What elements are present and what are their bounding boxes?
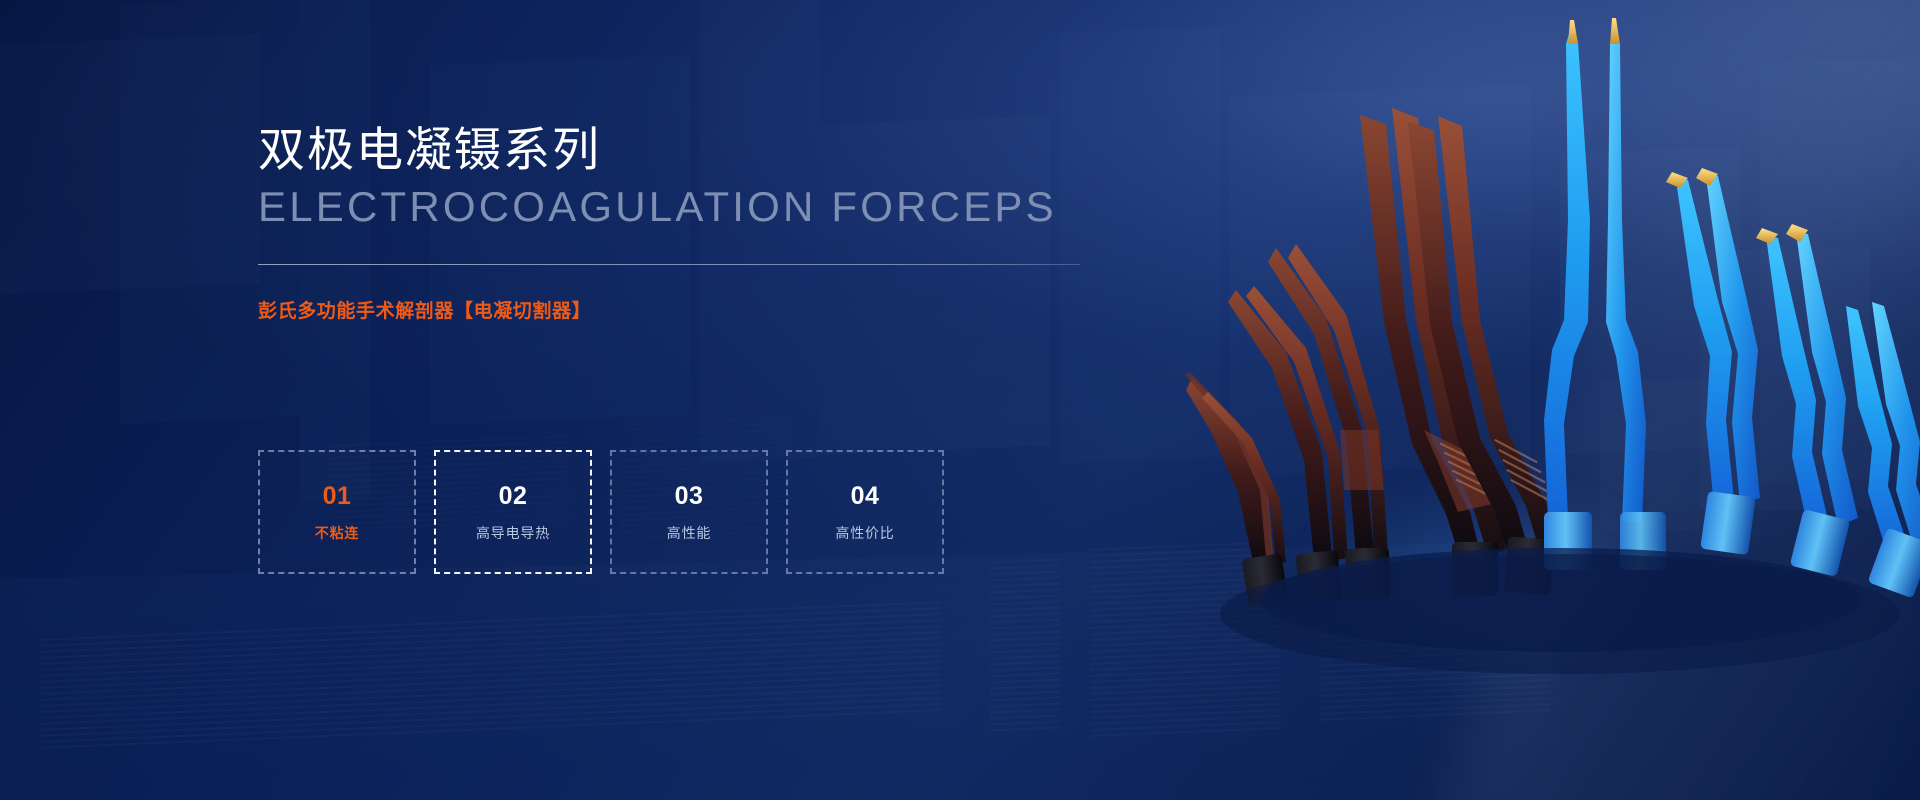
forceps-blue-4 [1846,302,1920,598]
feature-card-02[interactable]: 02 高导电导热 [434,450,592,574]
feature-number: 02 [499,484,528,509]
product-banner: 双极电凝镊系列 ELECTROCOAGULATION FORCEPS 彭氏多功能… [0,0,1920,800]
product-image-forceps [1040,0,1920,800]
forceps-blue-3 [1756,224,1858,577]
feature-number: 04 [851,484,880,509]
forceps-blue-center [1544,18,1666,570]
page-title: 双极电凝镊系列 [258,122,1108,177]
product-subtitle: 彭氏多功能手术解剖器【电凝切割器】 [258,296,1108,323]
feature-label: 高性能 [667,526,711,540]
forceps-illustration [1040,0,1920,800]
forceps-blue-2 [1666,168,1760,555]
banner-copy: 双极电凝镊系列 ELECTROCOAGULATION FORCEPS 彭氏多功能… [258,122,1108,323]
feature-label: 高性价比 [835,526,894,540]
feature-label: 不粘连 [315,526,359,540]
feature-card-04[interactable]: 04 高性价比 [786,450,944,574]
feature-card-03[interactable]: 03 高性能 [610,450,768,574]
feature-card-01[interactable]: 01 不粘连 [258,450,416,574]
page-subtitle-en: ELECTROCOAGULATION FORCEPS [258,183,1108,231]
feature-number: 01 [323,484,352,509]
feature-list: 01 不粘连 02 高导电导热 03 高性能 04 高性价比 [258,450,944,574]
divider [258,264,1080,265]
feature-label: 高导电导热 [476,526,550,540]
forceps-dark-1 [1185,372,1289,607]
feature-number: 03 [675,484,704,509]
